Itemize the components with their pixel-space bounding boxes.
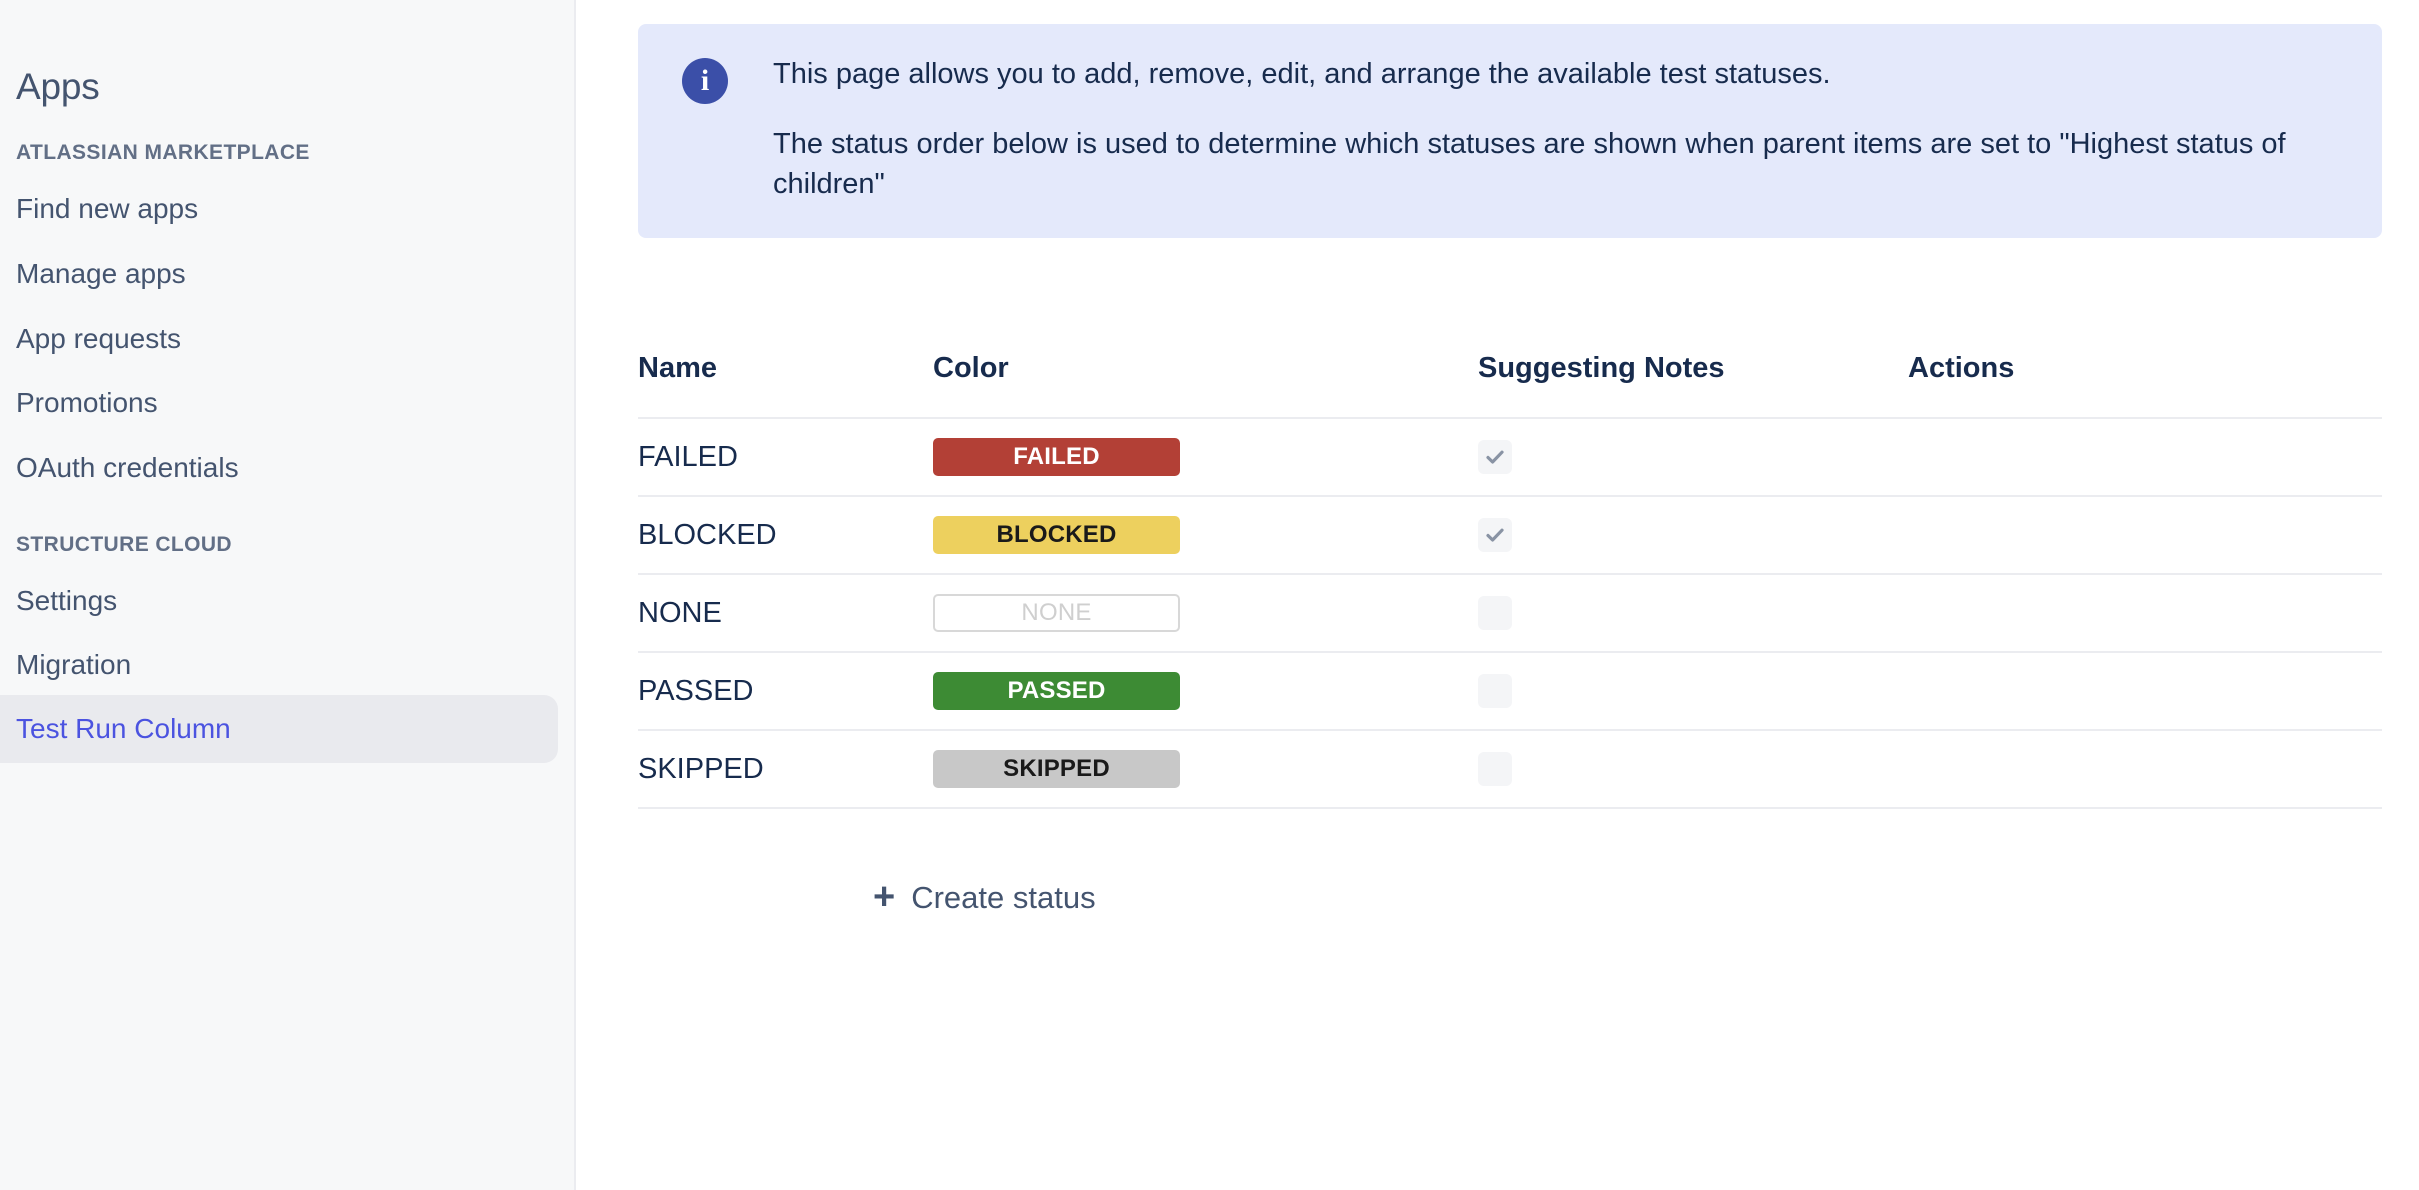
create-status-label: Create status: [911, 880, 1095, 916]
status-name-cell: SKIPPED: [638, 730, 933, 808]
table-row: FAILEDFAILED: [638, 418, 2382, 496]
info-banner-line-2: The status order below is used to determ…: [773, 124, 2348, 204]
status-name-cell: PASSED: [638, 652, 933, 730]
sidebar-item-promotions[interactable]: Promotions: [0, 369, 158, 437]
checkbox-unchecked[interactable]: [1478, 674, 1512, 708]
table-row: PASSEDPASSED: [638, 652, 2382, 730]
table-body: FAILEDFAILEDBLOCKEDBLOCKEDNONENONEPASSED…: [638, 418, 2382, 808]
actions-cell: [1908, 730, 2382, 808]
sidebar-item-manage-apps[interactable]: Manage apps: [0, 240, 186, 308]
create-status-button[interactable]: + Create status: [638, 880, 1096, 916]
sidebar-section-label-marketplace: ATLASSIAN MARKETPLACE: [0, 141, 310, 165]
info-icon: i: [682, 58, 728, 104]
info-banner-text: This page allows you to add, remove, edi…: [773, 54, 2348, 204]
status-color-cell: SKIPPED: [933, 730, 1478, 808]
suggesting-notes-cell: [1478, 574, 1908, 652]
app-root: Apps ATLASSIAN MARKETPLACE Find new apps…: [0, 0, 2419, 1190]
suggesting-notes-cell: [1478, 730, 1908, 808]
table-row: SKIPPEDSKIPPED: [638, 730, 2382, 808]
plus-icon: +: [873, 878, 895, 916]
actions-cell: [1908, 496, 2382, 574]
sidebar-item-find-new-apps[interactable]: Find new apps: [0, 175, 198, 243]
suggesting-notes-cell: [1478, 652, 1908, 730]
checkbox-unchecked[interactable]: [1478, 596, 1512, 630]
sidebar: Apps ATLASSIAN MARKETPLACE Find new apps…: [0, 0, 576, 1190]
actions-cell: [1908, 574, 2382, 652]
checkbox-unchecked[interactable]: [1478, 752, 1512, 786]
status-name-cell: NONE: [638, 574, 933, 652]
table-header-row: Name Color Suggesting Notes Actions: [638, 352, 2382, 418]
statuses-table-wrap: Name Color Suggesting Notes Actions FAIL…: [638, 352, 2382, 809]
status-color-chip[interactable]: NONE: [933, 594, 1180, 632]
column-header-actions: Actions: [1908, 352, 2382, 418]
checkbox-checked[interactable]: [1478, 440, 1512, 474]
page-title: Apps: [0, 66, 100, 108]
sidebar-item-app-requests[interactable]: App requests: [0, 305, 181, 373]
info-banner: i This page allows you to add, remove, e…: [638, 24, 2382, 238]
table-row: NONENONE: [638, 574, 2382, 652]
status-color-chip[interactable]: SKIPPED: [933, 750, 1180, 788]
sidebar-section-label-structure-cloud: STRUCTURE CLOUD: [0, 533, 232, 557]
status-name-cell: BLOCKED: [638, 496, 933, 574]
status-color-cell: NONE: [933, 574, 1478, 652]
statuses-table: Name Color Suggesting Notes Actions FAIL…: [638, 352, 2382, 809]
status-color-cell: BLOCKED: [933, 496, 1478, 574]
status-color-cell: FAILED: [933, 418, 1478, 496]
column-header-name: Name: [638, 352, 933, 418]
sidebar-item-settings[interactable]: Settings: [0, 567, 117, 635]
table-row: BLOCKEDBLOCKED: [638, 496, 2382, 574]
sidebar-item-migration[interactable]: Migration: [0, 631, 131, 699]
actions-cell: [1908, 652, 2382, 730]
column-header-suggesting-notes: Suggesting Notes: [1478, 352, 1908, 418]
sidebar-item-oauth-credentials[interactable]: OAuth credentials: [0, 434, 239, 502]
status-color-cell: PASSED: [933, 652, 1478, 730]
status-color-chip[interactable]: BLOCKED: [933, 516, 1180, 554]
sidebar-item-test-run-column[interactable]: Test Run Column: [0, 695, 558, 763]
actions-cell: [1908, 418, 2382, 496]
status-color-chip[interactable]: FAILED: [933, 438, 1180, 476]
checkbox-checked[interactable]: [1478, 518, 1512, 552]
column-header-color: Color: [933, 352, 1478, 418]
suggesting-notes-cell: [1478, 496, 1908, 574]
table-head: Name Color Suggesting Notes Actions: [638, 352, 2382, 418]
main-content: i This page allows you to add, remove, e…: [576, 0, 2419, 1190]
suggesting-notes-cell: [1478, 418, 1908, 496]
status-name-cell: FAILED: [638, 418, 933, 496]
info-banner-line-1: This page allows you to add, remove, edi…: [773, 54, 2348, 94]
status-color-chip[interactable]: PASSED: [933, 672, 1180, 710]
